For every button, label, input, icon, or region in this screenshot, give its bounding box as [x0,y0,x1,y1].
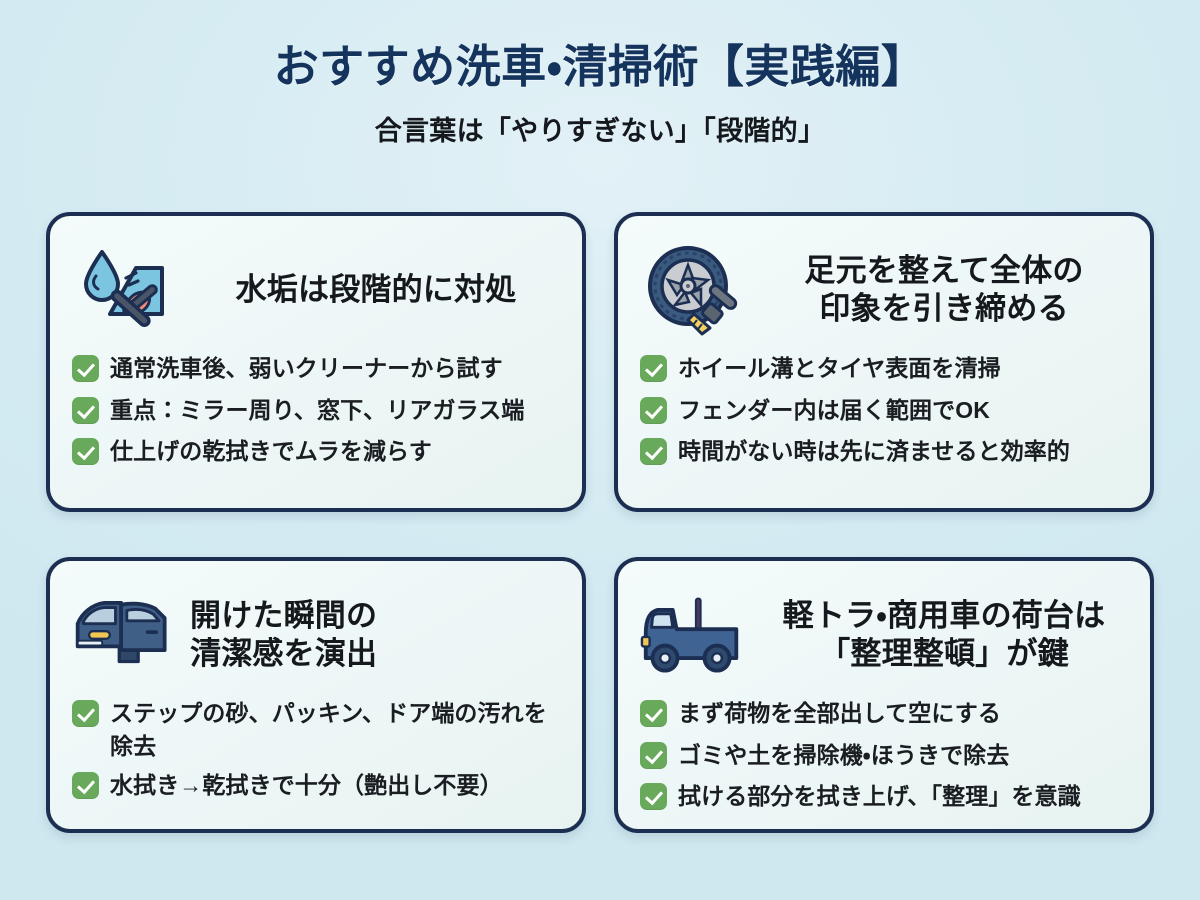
list-item: 時間がない時は先に済ませると効率的 [640,435,1130,468]
bullet-list: 通常洗車後、弱いクリーナーから試す 重点：ミラー周り、窓下、リアガラス端 仕上げ… [72,352,562,468]
check-icon [72,772,99,799]
bullet-text: 通常洗車後、弱いクリーナーから試す [110,352,503,385]
check-icon [72,438,99,465]
bullet-text: 時間がない時は先に済ませると効率的 [678,435,1070,468]
bullet-text: まず荷物を全部出して空にする [678,697,1001,730]
card-heading: 軽トラ・商用車の荷台は 「整理整頓」が鍵 [758,597,1130,673]
card-header: 水垢は段階的に対処 [72,236,562,344]
list-item: まず荷物を全部出して空にする [640,697,1130,730]
poster-header: おすすめ洗車・清掃術【実践編】 合言葉は「やりすぎない」「段階的」 [0,0,1200,148]
bullet-text: ゴミや土を掃除機・ほうきで除去 [678,739,1009,772]
bullet-list: ホイール溝とタイヤ表面を清掃 フェンダー内は届く範囲でOK 時間がない時は先に済… [640,352,1130,468]
list-item: 仕上げの乾拭きでムラを減らす [72,435,562,468]
check-icon [640,742,667,769]
bullet-text: フェンダー内は届く範囲でOK [678,394,990,427]
card-header: 開けた瞬間の 清潔感を演出 [72,581,562,689]
bullet-text: 仕上げの乾拭きでムラを減らす [110,435,432,468]
card-header: 足元を整えて全体の 印象を引き締める [640,236,1130,344]
bullet-text: 水拭き→乾拭きで十分（艶出し不要） [110,769,503,802]
page-title: おすすめ洗車・清掃術【実践編】 [0,40,1200,93]
check-icon [640,700,667,727]
card-heading: 足元を整えて全体の 印象を引き締める [758,252,1130,328]
card-heading: 開けた瞬間の 清潔感を演出 [190,597,562,673]
bullet-list: まず荷物を全部出して空にする ゴミや土を掃除機・ほうきで除去 拭ける部分を拭き上… [640,697,1130,813]
check-icon [640,438,667,465]
wheel-brush-icon [640,238,744,342]
list-item: 重点：ミラー周り、窓下、リアガラス端 [72,394,562,427]
check-icon [640,397,667,424]
bullet-list: ステップの砂、パッキン、ドア端の汚れを除去 水拭き→乾拭きで十分（艶出し不要） [72,697,562,802]
card-door-interior: 開けた瞬間の 清潔感を演出 ステップの砂、パッキン、ドア端の汚れを除去 水拭き→… [46,557,586,833]
card-wheel-care: 足元を整えて全体の 印象を引き締める ホイール溝とタイヤ表面を清掃 フェンダー内… [614,212,1154,512]
list-item: 通常洗車後、弱いクリーナーから試す [72,352,562,385]
card-truck-bed: 軽トラ・商用車の荷台は 「整理整頓」が鍵 まず荷物を全部出して空にする ゴミや土… [614,557,1154,833]
list-item: フェンダー内は届く範囲でOK [640,394,1130,427]
check-icon [72,397,99,424]
list-item: ステップの砂、パッキン、ドア端の汚れを除去 [72,697,562,762]
open-car-door-icon [72,583,176,687]
infographic-poster: おすすめ洗車・清掃術【実践編】 合言葉は「やりすぎない」「段階的」 [0,0,1200,900]
page-subtitle: 合言葉は「やりすぎない」「段階的」 [0,109,1200,148]
card-heading: 水垢は段階的に対処 [190,271,562,309]
check-icon [72,355,99,382]
bullet-text: ホイール溝とタイヤ表面を清掃 [678,352,1001,385]
water-drop-squeegee-icon [72,238,176,342]
check-icon [640,355,667,382]
card-header: 軽トラ・商用車の荷台は 「整理整頓」が鍵 [640,581,1130,689]
card-water-stain: 水垢は段階的に対処 通常洗車後、弱いクリーナーから試す 重点：ミラー周り、窓下、… [46,212,586,512]
bullet-text: 拭ける部分を拭き上げ、「整理」を意識 [678,780,1081,813]
list-item: ホイール溝とタイヤ表面を清掃 [640,352,1130,385]
check-icon [640,783,667,810]
list-item: 水拭き→乾拭きで十分（艶出し不要） [72,769,562,802]
list-item: ゴミや土を掃除機・ほうきで除去 [640,739,1130,772]
card-grid: 水垢は段階的に対処 通常洗車後、弱いクリーナーから試す 重点：ミラー周り、窓下、… [46,212,1154,833]
kei-truck-broom-box-icon [640,583,744,687]
list-item: 拭ける部分を拭き上げ、「整理」を意識 [640,780,1130,813]
bullet-text: 重点：ミラー周り、窓下、リアガラス端 [110,394,524,427]
check-icon [72,700,99,727]
bullet-text: ステップの砂、パッキン、ドア端の汚れを除去 [110,697,562,762]
